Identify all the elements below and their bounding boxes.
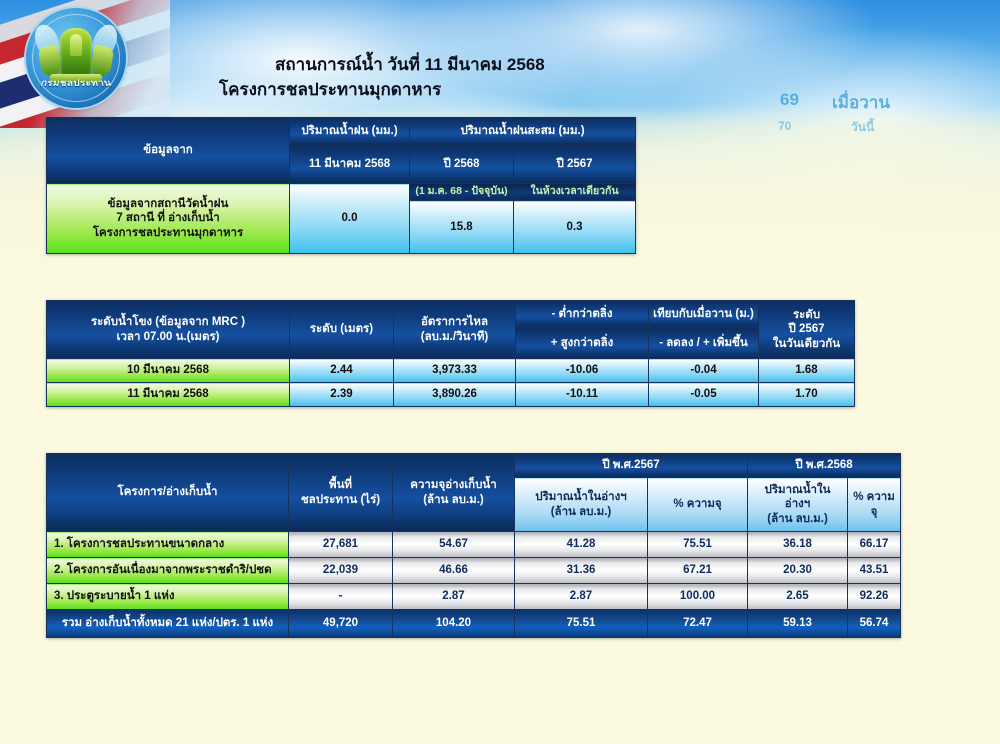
reservoir-total-pct2567: 72.47 [648, 610, 748, 638]
mekong-row-date: 11 มีนาคม 2568 [47, 383, 290, 407]
reservoir-row-pct2567: 100.00 [648, 584, 748, 610]
rainfall-col-rain: ปริมาณน้ำฝน (มม.) [290, 118, 410, 146]
table-row: 1. โครงการชลประทานขนาดกลาง 27,681 54.67 … [47, 532, 901, 558]
mekong-col-title: ระดับน้ำโขง (ข้อมูลจาก MRC ) เวลา 07.00 … [47, 301, 290, 359]
rainfall-note-2568: (1 ม.ค. 68 - ปัจจุบัน) [410, 184, 514, 201]
reservoir-col-vol2567-line2: (ล้าน ลบ.ม.) [518, 505, 644, 519]
reservoir-col-area-line2: ชลประทาน (ไร่) [292, 493, 389, 507]
rainfall-col-source: ข้อมูลจาก [47, 118, 290, 184]
reservoir-col-capacity-line2: (ล้าน ลบ.ม.) [396, 493, 511, 507]
table-row: 3. ประตูระบายน้ำ 1 แห่ง - 2.87 2.87 100.… [47, 584, 901, 610]
faint-today-value: 70 [778, 119, 791, 133]
rainfall-col-accum-2567: ปี 2567 [514, 146, 636, 184]
reservoir-col-area: พื้นที่ ชลประทาน (ไร่) [289, 454, 393, 532]
page-title-line2: โครงการชลประทานมุกดาหาร [219, 76, 441, 103]
reservoir-row-pct2568: 43.51 [848, 558, 901, 584]
rainfall-source-line1: ข้อมูลจากสถานีวัดน้ำฝน [50, 197, 286, 211]
mekong-col-level2567-line3: ในวันเดียวกัน [762, 337, 851, 351]
reservoir-total-vol2567: 75.51 [515, 610, 648, 638]
reservoir-col-pct-2568: % ความจุ [848, 478, 901, 532]
reservoir-row-pct2568: 92.26 [848, 584, 901, 610]
mekong-row-compare: -0.05 [649, 383, 759, 407]
table-row: โครงการ/อ่างเก็บน้ำ พื้นที่ ชลประทาน (ไร… [47, 454, 901, 478]
reservoir-col-area-line1: พื้นที่ [292, 478, 389, 492]
reservoir-total-capacity: 104.20 [393, 610, 515, 638]
reservoir-total-vol2568: 59.13 [748, 610, 848, 638]
mekong-col-title-line1: ระดับน้ำโขง (ข้อมูลจาก MRC ) [50, 315, 286, 329]
rainfall-col-accum: ปริมาณน้ำฝนสะสม (มม.) [410, 118, 636, 146]
reservoir-total-pct2568: 56.74 [848, 610, 901, 638]
faint-yesterday-value: 69 [780, 90, 799, 110]
mekong-level-table: ระดับน้ำโขง (ข้อมูลจาก MRC ) เวลา 07.00 … [46, 300, 855, 407]
mekong-row-bank: -10.06 [516, 359, 649, 383]
reservoir-row-name: 2. โครงการอันเนื่องมาจากพระราชดำริ/ปชด [47, 558, 289, 584]
mekong-col-compare-top: เทียบกับเมื่อวาน (ม.) [649, 301, 759, 328]
mekong-col-flow-line1: อัตราการไหล [397, 315, 512, 329]
reservoir-group-2567: ปี พ.ศ.2567 [515, 454, 748, 478]
rainfall-source-line2: 7 สถานี ที่ อ่างเก็บน้ำ [50, 211, 286, 225]
mekong-col-bank-top: - ต่ำกว่าตลิ่ง [516, 301, 649, 328]
reservoir-total-area: 49,720 [289, 610, 393, 638]
reservoir-row-vol2568: 2.65 [748, 584, 848, 610]
reservoir-row-vol2568: 20.30 [748, 558, 848, 584]
reservoir-col-vol-2567: ปริมาณน้ำในอ่างฯ (ล้าน ลบ.ม.) [515, 478, 648, 532]
reservoir-col-vol-2568: ปริมาณน้ำใน อ่างฯ (ล้าน ลบ.ม.) [748, 478, 848, 532]
reservoir-group-2568: ปี พ.ศ.2568 [748, 454, 901, 478]
rainfall-accum-2568: 15.8 [410, 201, 514, 254]
reservoir-row-vol2567: 41.28 [515, 532, 648, 558]
reservoir-col-vol2568-line1: ปริมาณน้ำใน [751, 483, 844, 497]
rainfall-note-2567: ในห้วงเวลาเดียวกัน [514, 184, 636, 201]
reservoir-row-name: 3. ประตูระบายน้ำ 1 แห่ง [47, 584, 289, 610]
rainfall-source-cell: ข้อมูลจากสถานีวัดน้ำฝน 7 สถานี ที่ อ่างเ… [47, 184, 290, 254]
mekong-row-flow: 3,973.33 [394, 359, 516, 383]
rainfall-value-today: 0.0 [290, 184, 410, 254]
reservoir-row-vol2568: 36.18 [748, 532, 848, 558]
mekong-row-level: 2.44 [290, 359, 394, 383]
reservoir-row-vol2567: 31.36 [515, 558, 648, 584]
mekong-row-level2567: 1.70 [759, 383, 855, 407]
table-row: 10 มีนาคม 2568 2.44 3,973.33 -10.06 -0.0… [47, 359, 855, 383]
table-row: ข้อมูลจาก ปริมาณน้ำฝน (มม.) ปริมาณน้ำฝนส… [47, 118, 636, 146]
mekong-row-flow: 3,890.26 [394, 383, 516, 407]
reservoir-row-capacity: 46.66 [393, 558, 515, 584]
reservoir-row-name: 1. โครงการชลประทานขนาดกลาง [47, 532, 289, 558]
mekong-col-level-2567: ระดับ ปี 2567 ในวันเดียวกัน [759, 301, 855, 359]
reservoir-table: โครงการ/อ่างเก็บน้ำ พื้นที่ ชลประทาน (ไร… [46, 453, 901, 638]
mekong-col-level2567-line1: ระดับ [762, 308, 851, 322]
royal-irrigation-department-logo: กรมชลประทาน [26, 8, 130, 120]
table-row: 11 มีนาคม 2568 2.39 3,890.26 -10.11 -0.0… [47, 383, 855, 407]
table-row: 2. โครงการอันเนื่องมาจากพระราชดำริ/ปชด 2… [47, 558, 901, 584]
reservoir-col-pct-2567: % ความจุ [648, 478, 748, 532]
reservoir-row-vol2567: 2.87 [515, 584, 648, 610]
reservoir-row-pct2567: 67.21 [648, 558, 748, 584]
mekong-row-date: 10 มีนาคม 2568 [47, 359, 290, 383]
rainfall-source-line3: โครงการชลประทานมุกดาหาร [50, 226, 286, 240]
mekong-col-compare-bottom: - ลดลง / + เพิ่มขึ้น [649, 328, 759, 359]
table-row-total: รวม อ่างเก็บน้ำทั้งหมด 21 แห่ง/ปตร. 1 แห… [47, 610, 901, 638]
reservoir-col-vol2568-line2: อ่างฯ [751, 497, 844, 511]
rainfall-accum-2567: 0.3 [514, 201, 636, 254]
reservoir-row-pct2568: 66.17 [848, 532, 901, 558]
table-row: ระดับน้ำโขง (ข้อมูลจาก MRC ) เวลา 07.00 … [47, 301, 855, 328]
mekong-row-bank: -10.11 [516, 383, 649, 407]
rainfall-table: ข้อมูลจาก ปริมาณน้ำฝน (มม.) ปริมาณน้ำฝนส… [46, 117, 636, 254]
mekong-row-level: 2.39 [290, 383, 394, 407]
reservoir-row-capacity: 54.67 [393, 532, 515, 558]
mekong-col-title-line2: เวลา 07.00 น.(เมตร) [50, 330, 286, 344]
rainfall-col-accum-2568: ปี 2568 [410, 146, 514, 184]
faint-yesterday-label: เมื่อวาน [832, 89, 890, 116]
reservoir-total-name: รวม อ่างเก็บน้ำทั้งหมด 21 แห่ง/ปตร. 1 แห… [47, 610, 289, 638]
mekong-col-bank-bottom: + สูงกว่าตลิ่ง [516, 328, 649, 359]
mekong-col-flow-line2: (ลบ.ม./วินาที) [397, 330, 512, 344]
mekong-row-compare: -0.04 [649, 359, 759, 383]
reservoir-row-area: 22,039 [289, 558, 393, 584]
reservoir-row-area: - [289, 584, 393, 610]
mekong-col-level2567-line2: ปี 2567 [762, 322, 851, 336]
page-title-line1: สถานการณ์น้ำ วันที่ 11 มีนาคม 2568 [275, 51, 545, 78]
mekong-col-flow: อัตราการไหล (ลบ.ม./วินาที) [394, 301, 516, 359]
mekong-col-level: ระดับ (เมตร) [290, 301, 394, 359]
rainfall-col-rain-date: 11 มีนาคม 2568 [290, 146, 410, 184]
reservoir-col-vol2567-line1: ปริมาณน้ำในอ่างฯ [518, 490, 644, 504]
reservoir-row-pct2567: 75.51 [648, 532, 748, 558]
reservoir-col-vol2568-line3: (ล้าน ลบ.ม.) [751, 512, 844, 526]
reservoir-col-project: โครงการ/อ่างเก็บน้ำ [47, 454, 289, 532]
logo-caption: กรมชลประทาน [23, 77, 129, 90]
mekong-row-level2567: 1.68 [759, 359, 855, 383]
reservoir-row-area: 27,681 [289, 532, 393, 558]
reservoir-row-capacity: 2.87 [393, 584, 515, 610]
table-row: ข้อมูลจากสถานีวัดน้ำฝน 7 สถานี ที่ อ่างเ… [47, 184, 636, 201]
reservoir-col-capacity-line1: ความจุอ่างเก็บน้ำ [396, 478, 511, 492]
reservoir-col-capacity: ความจุอ่างเก็บน้ำ (ล้าน ลบ.ม.) [393, 454, 515, 532]
faint-today-label: วันนี้ [851, 118, 874, 137]
